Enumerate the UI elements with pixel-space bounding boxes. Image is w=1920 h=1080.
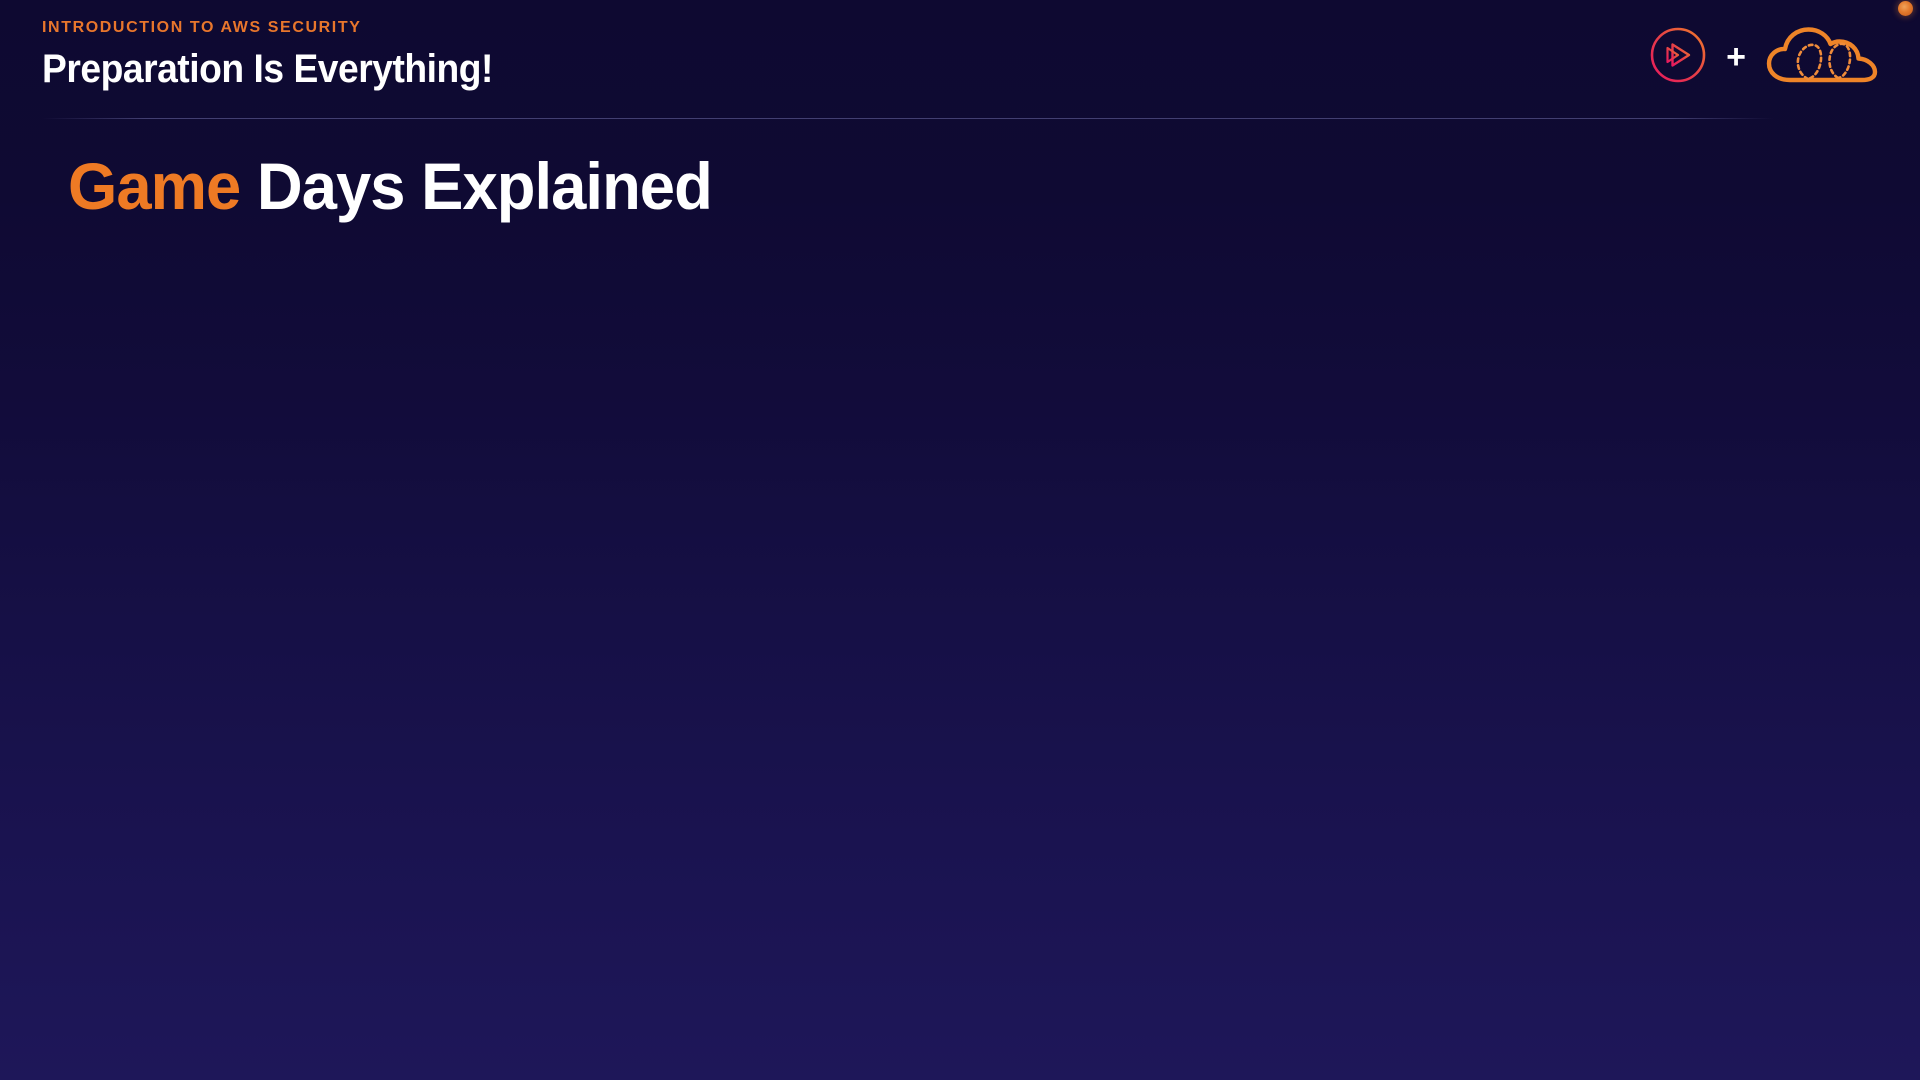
slide-canvas: INTRODUCTION TO AWS SECURITY Preparation… xyxy=(0,0,1920,1080)
page-title: Preparation Is Everything! xyxy=(42,45,493,93)
aws-cloud-icon xyxy=(1764,24,1880,86)
header-text-block: INTRODUCTION TO AWS SECURITY Preparation… xyxy=(42,18,527,93)
slide-body: Game Days Explained xyxy=(0,120,1920,1080)
header-divider xyxy=(42,118,1774,119)
section-heading-rest: Days Explained xyxy=(257,149,712,223)
section-heading: Game Days Explained xyxy=(68,147,712,225)
header-eyebrow: INTRODUCTION TO AWS SECURITY xyxy=(42,18,527,38)
logo-separator-plus: + xyxy=(1726,40,1746,74)
slide-header: INTRODUCTION TO AWS SECURITY Preparation… xyxy=(0,0,1920,120)
logo-lockup: + xyxy=(1648,16,1880,94)
slide-content-area xyxy=(68,250,1852,1040)
section-heading-accent: Game xyxy=(68,149,240,223)
play-triangle-circle-icon xyxy=(1648,25,1708,85)
